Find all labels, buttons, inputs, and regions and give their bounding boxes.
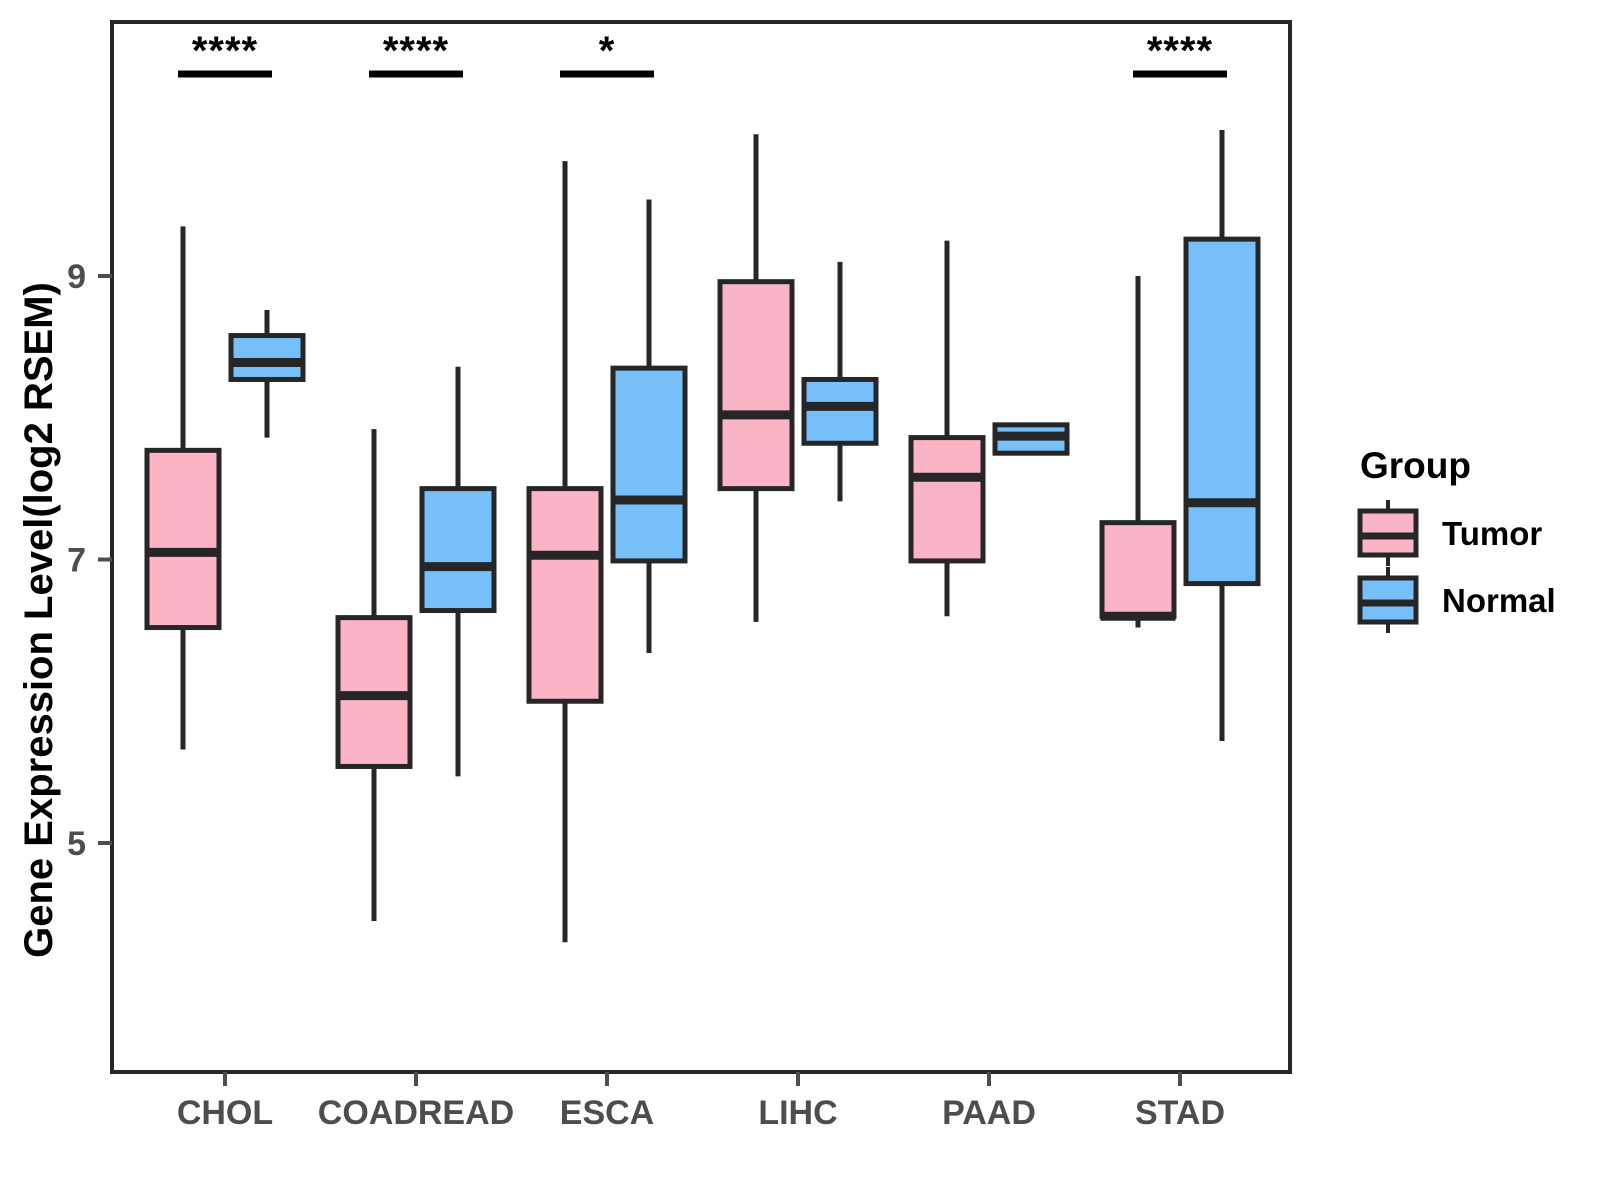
box-rect: [613, 368, 685, 561]
x-axis-tick-label-paad: PAAD: [942, 1094, 1036, 1132]
y-axis-tick-label: 9: [67, 258, 86, 296]
significance-stars: ****: [192, 29, 258, 73]
significance-bracket-stad: ****: [1133, 29, 1227, 74]
box-rect: [422, 489, 494, 611]
box-rect: [720, 282, 792, 489]
box-rect: [529, 489, 601, 702]
significance-stars: *: [599, 29, 616, 73]
x-axis-tick-label-stad: STAD: [1135, 1094, 1225, 1132]
y-axis-tick-label: 5: [67, 825, 86, 863]
legend-label-tumor: Tumor: [1442, 515, 1542, 552]
box-rect: [1186, 239, 1258, 583]
significance-stars: ****: [383, 29, 449, 73]
box-rect: [1102, 523, 1174, 617]
box-rect: [231, 336, 303, 380]
box-rect: [911, 438, 983, 561]
significance-bracket-chol: ****: [178, 29, 272, 74]
box-rect: [147, 450, 219, 627]
box-rect: [804, 379, 876, 443]
chart-canvas: Gene Expression Level(log2 RSEM) 579 CHO…: [0, 0, 1600, 1200]
legend-title: Group: [1360, 445, 1471, 486]
x-axis-tick-label-lihc: LIHC: [758, 1094, 837, 1132]
x-axis-tick-label-esca: ESCA: [560, 1094, 654, 1132]
y-axis-tick-label: 7: [67, 542, 86, 580]
significance-bracket-coadread: ****: [369, 29, 463, 74]
significance-stars: ****: [1147, 29, 1213, 73]
boxplot-figure: Gene Expression Level(log2 RSEM) 579 CHO…: [0, 0, 1600, 1200]
legend-label-normal: Normal: [1442, 582, 1556, 619]
box-normal-paad: [994, 423, 1069, 453]
y-axis-title: Gene Expression Level(log2 RSEM): [17, 282, 61, 958]
x-axis-tick-label-coadread: COADREAD: [318, 1094, 514, 1132]
x-axis-tick-label-chol: CHOL: [177, 1094, 273, 1132]
